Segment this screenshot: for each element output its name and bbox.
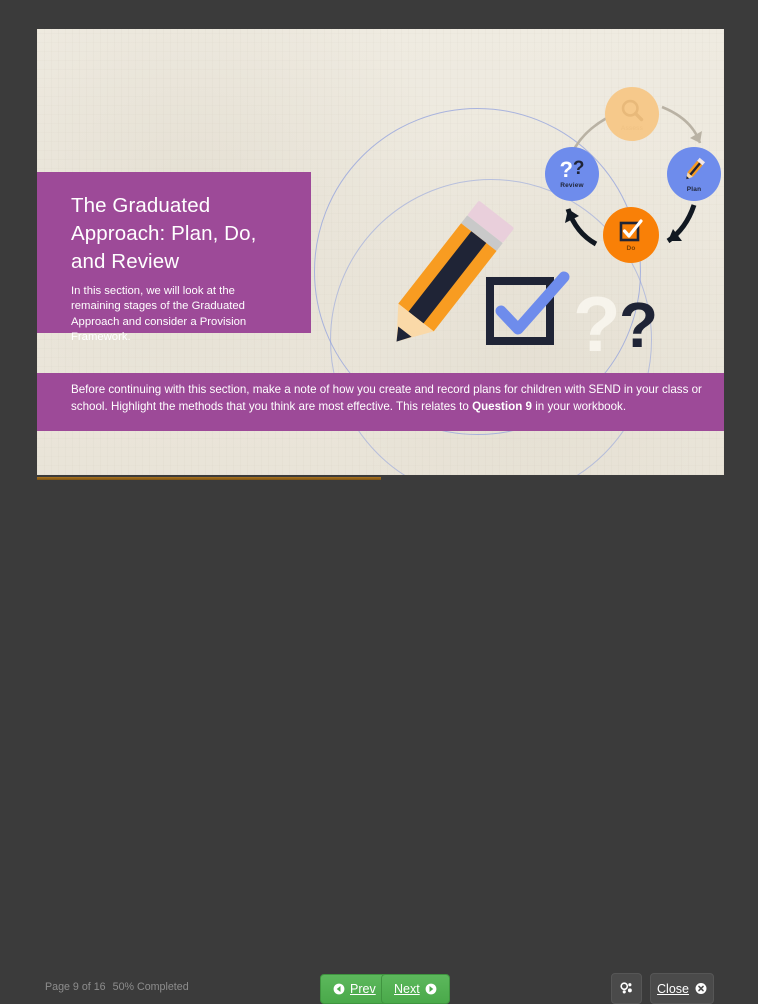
svg-text:?: ?	[619, 289, 658, 361]
settings-button[interactable]	[611, 973, 642, 1004]
cycle-node-assess-label: Assess	[621, 125, 643, 132]
footer-toolbar: Page 9 of 1650% Completed Prev Next Clos…	[0, 484, 758, 560]
next-button[interactable]: Next	[381, 974, 450, 1004]
pencil-icon	[679, 155, 709, 185]
cycle-node-assess[interactable]: Assess	[605, 87, 659, 141]
cycle-node-do-label: Do	[626, 245, 635, 252]
cycle-node-plan[interactable]: Plan	[667, 147, 721, 201]
graduated-approach-cycle-diagram: Assess Plan Do ??	[534, 81, 724, 281]
chevron-left-circle-icon	[333, 983, 345, 995]
cycle-node-plan-label: Plan	[687, 186, 702, 193]
chevron-right-circle-icon	[425, 983, 437, 995]
next-button-label: Next	[394, 982, 420, 996]
close-button-label: Close	[657, 982, 689, 996]
slide-callout-banner: Before continuing with this section, mak…	[37, 373, 724, 431]
question-marks-illustration: ? ?	[571, 287, 671, 367]
close-button[interactable]: Close	[650, 973, 714, 1004]
slide-title: The Graduated Approach: Plan, Do, and Re…	[71, 192, 285, 276]
slide-subtitle: In this section, we will look at the rem…	[71, 284, 285, 345]
slide-callout-text: Before continuing with this section, mak…	[71, 382, 710, 416]
close-circle-icon	[695, 983, 707, 995]
magnifier-icon	[619, 97, 646, 124]
cycle-node-do[interactable]: Do	[603, 207, 659, 263]
slide-stage: ? ? Assess	[37, 29, 724, 475]
cycle-node-review-label: Review	[560, 182, 584, 189]
slide-title-card: The Graduated Approach: Plan, Do, and Re…	[37, 172, 311, 333]
question-marks-icon: ??	[559, 159, 584, 181]
svg-text:?: ?	[573, 287, 621, 367]
checkbox-icon	[618, 218, 644, 244]
page-status: Page 9 of 1650% Completed	[45, 981, 189, 993]
gear-icon	[619, 981, 634, 996]
progress-bar-fill	[37, 477, 381, 480]
page-indicator: Page 9 of 16	[45, 981, 106, 993]
progress-bar-track	[37, 477, 724, 480]
prev-button[interactable]: Prev	[320, 974, 389, 1004]
completion-indicator: 50% Completed	[113, 981, 189, 993]
prev-button-label: Prev	[350, 982, 376, 996]
cycle-node-review[interactable]: ?? Review	[545, 147, 599, 201]
callout-emphasis: Question 9	[472, 400, 532, 413]
callout-text-after: in your workbook.	[532, 400, 626, 413]
